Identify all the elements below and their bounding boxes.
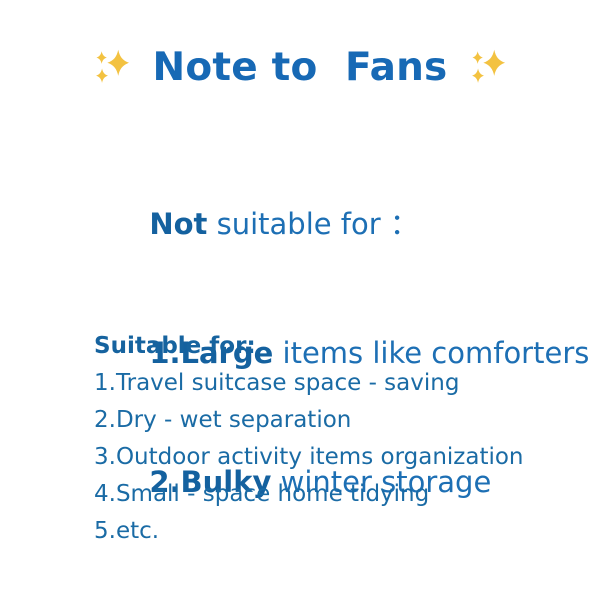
suitable-heading: Suitable for: xyxy=(94,327,524,365)
not-suitable-heading-rest: suitable for ： xyxy=(207,207,419,241)
sparkles-icon xyxy=(465,44,511,90)
suitable-item: 4.Small - space home tidying xyxy=(94,476,524,513)
note-to-fans-card: Note to Fans Not suitable for ： 1.Large … xyxy=(0,0,600,600)
suitable-item: 2.Dry - wet separation xyxy=(94,402,524,439)
suitable-item: 3.Outdoor activity items organization xyxy=(94,439,524,476)
sparkles-icon xyxy=(89,44,135,90)
page-header: Note to Fans xyxy=(0,44,600,90)
page-title: Note to Fans xyxy=(153,48,448,87)
suitable-item: 1.Travel suitcase space - saving xyxy=(94,365,524,402)
not-suitable-heading: Not suitable for ： xyxy=(94,160,589,289)
suitable-section: Suitable for: 1.Travel suitcase space - … xyxy=(94,327,524,550)
suitable-item: 5.etc. xyxy=(94,513,524,550)
not-suitable-heading-emphasis: Not xyxy=(149,207,207,241)
